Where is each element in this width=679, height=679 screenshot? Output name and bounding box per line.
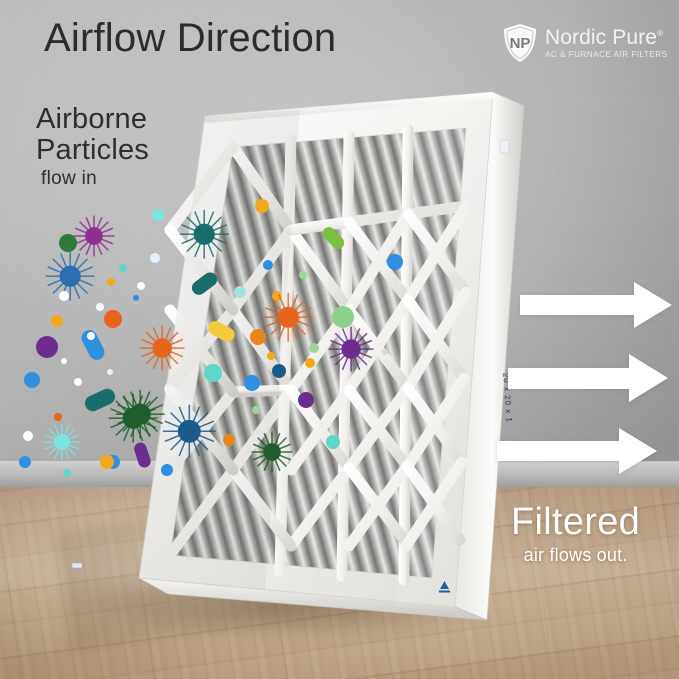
dust-particle — [234, 286, 246, 298]
dust-particle — [250, 329, 266, 345]
bacteria-particle — [210, 322, 235, 341]
dust-particle — [100, 455, 114, 469]
airborne-caption-line3: flow in — [41, 168, 149, 190]
germ-particle — [115, 389, 165, 439]
dust-particle — [223, 434, 235, 446]
dust-particle — [326, 435, 340, 449]
germ-particle — [179, 209, 229, 259]
germ-particle — [251, 431, 293, 473]
bacteria-particle — [135, 444, 149, 466]
filtered-caption-line1: Filtered — [511, 503, 640, 541]
germ-particle — [162, 404, 217, 459]
dust-particle — [263, 260, 273, 270]
brand-wordmark: Nordic Pure® AC & FURNACE AIR FILTERS — [545, 27, 668, 59]
germ-particle — [139, 325, 185, 371]
nordic-pure-shield-icon: NP — [502, 23, 538, 63]
registered-mark: ® — [657, 29, 663, 38]
dust-particle — [161, 464, 173, 476]
page-title: Airflow Direction — [44, 16, 336, 61]
dust-particle — [305, 358, 315, 368]
airflow-arrow-top — [520, 282, 672, 328]
germ-particle — [263, 292, 313, 342]
dust-particle — [387, 254, 403, 270]
dust-particle — [298, 392, 314, 408]
airflow-arrow-middle — [508, 354, 668, 402]
particles-caught-on-filter — [0, 0, 679, 679]
filtered-air-caption: Filtered air flows out. — [511, 503, 640, 566]
dust-particle — [272, 364, 286, 378]
brand-name: Nordic Pure® — [545, 27, 668, 48]
brand-tagline: AC & FURNACE AIR FILTERS — [545, 51, 668, 59]
dust-particle — [252, 406, 260, 414]
dust-particle — [309, 343, 319, 353]
dust-particle — [299, 271, 307, 279]
bacteria-particle — [323, 228, 343, 249]
airflow-direction-infographic: 20 x 20 x 1 Airflow Direction NP — [0, 0, 679, 679]
dust-particle — [204, 364, 222, 382]
dust-particle — [244, 375, 260, 391]
svg-text:NP: NP — [510, 35, 531, 52]
airborne-particles-caption: Airborne Particles flow in — [36, 104, 149, 190]
dust-particle — [267, 352, 275, 360]
bacteria-particle — [193, 272, 217, 293]
dust-particle — [255, 199, 269, 213]
germ-particle — [328, 326, 374, 372]
brand-name-text: Nordic Pure — [545, 26, 657, 49]
dust-particle — [382, 349, 388, 355]
airflow-arrow-bottom — [497, 428, 657, 474]
brand-logo: NP Nordic Pure® AC & FURNACE AIR FILTERS — [502, 23, 668, 63]
filtered-caption-line2: air flows out. — [511, 545, 640, 566]
airborne-caption-line1: Airborne — [36, 104, 149, 135]
dust-particle — [332, 306, 354, 328]
airborne-caption-line2: Particles — [36, 135, 149, 166]
